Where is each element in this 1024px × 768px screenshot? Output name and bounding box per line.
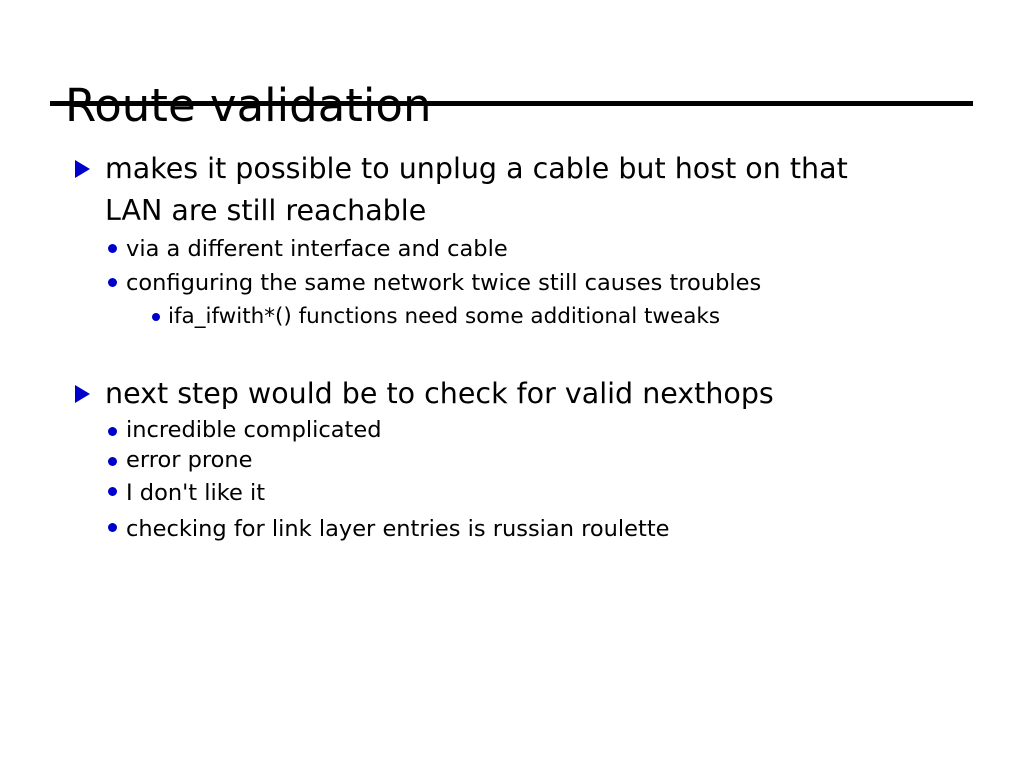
bullet-level1-item: next step would be to check for valid ne… bbox=[0, 373, 1024, 415]
bullet-level2-label: configuring the same network twice still… bbox=[126, 266, 761, 300]
bullet-level1-item: makes it possible to unplug a cable but … bbox=[0, 148, 1024, 232]
dot-bullet-icon bbox=[152, 313, 160, 321]
bullet-level2-item: configuring the same network twice still… bbox=[0, 266, 1024, 300]
bullet-level2-item: I don't like it bbox=[0, 475, 1024, 511]
bullet-level3-item: ifa_ifwith*() functions need some additi… bbox=[0, 300, 1024, 334]
bullet-level2-label: incredible complicated bbox=[126, 415, 382, 445]
dot-bullet-icon bbox=[108, 278, 117, 287]
dot-bullet-icon bbox=[108, 427, 117, 436]
bullet-level2-label: checking for link layer entries is russi… bbox=[126, 511, 670, 547]
triangle-right-icon bbox=[75, 160, 90, 178]
bullet-level2-item: incredible complicated bbox=[0, 415, 1024, 445]
presentation-slide: Route validation makes it possible to un… bbox=[0, 0, 1024, 768]
bullet-level2-label: via a different interface and cable bbox=[126, 232, 508, 266]
bullet-level2-item: via a different interface and cable bbox=[0, 232, 1024, 266]
bullet-level2-item: error prone bbox=[0, 445, 1024, 475]
dot-bullet-icon bbox=[108, 487, 117, 496]
title-underline-rule bbox=[50, 101, 973, 106]
bullet-level2-item: checking for link layer entries is russi… bbox=[0, 511, 1024, 547]
bullet-group-nexthop-check: next step would be to check for valid ne… bbox=[0, 373, 1024, 547]
dot-bullet-icon bbox=[108, 523, 117, 532]
page-title: Route validation bbox=[65, 80, 431, 132]
bullet-level1-label: makes it possible to unplug a cable but … bbox=[105, 148, 895, 232]
dot-bullet-icon bbox=[108, 244, 117, 253]
bullet-level2-label: I don't like it bbox=[126, 475, 265, 511]
triangle-right-icon bbox=[75, 385, 90, 403]
bullet-level2-label: error prone bbox=[126, 445, 253, 475]
slide-body-outline: makes it possible to unplug a cable but … bbox=[0, 148, 1024, 547]
bullet-group-route-unplug: makes it possible to unplug a cable but … bbox=[0, 148, 1024, 334]
dot-bullet-icon bbox=[108, 457, 117, 466]
bullet-level3-label: ifa_ifwith*() functions need some additi… bbox=[168, 300, 720, 334]
bullet-level1-label: next step would be to check for valid ne… bbox=[105, 373, 895, 415]
